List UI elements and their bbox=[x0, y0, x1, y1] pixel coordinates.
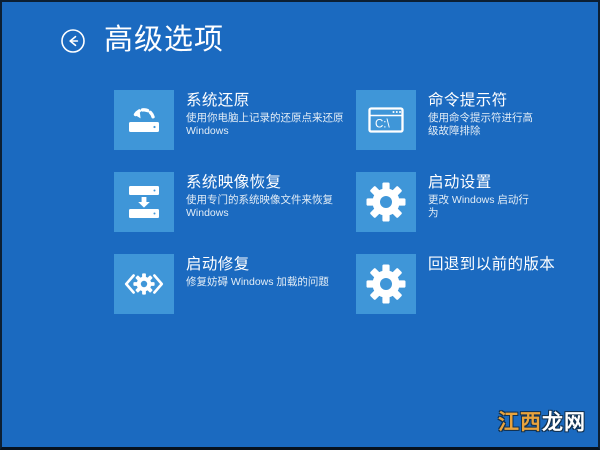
advanced-options-screen: 高级选项 系统还原 使用你电脑上记录的还原点来还原 Windows bbox=[0, 0, 600, 450]
startup-repair-icon bbox=[114, 254, 174, 314]
option-title: 回退到以前的版本 bbox=[428, 255, 534, 274]
option-text: 命令提示符 使用命令提示符进行高级故障排除 bbox=[428, 90, 534, 138]
watermark-part1: 江西 bbox=[498, 411, 542, 434]
option-command-prompt[interactable]: C:\ 命令提示符 使用命令提示符进行高级故障排除 bbox=[356, 90, 534, 172]
option-title: 系统还原 bbox=[186, 91, 354, 110]
option-title: 启动设置 bbox=[428, 173, 534, 192]
svg-text:C:\: C:\ bbox=[375, 119, 391, 131]
option-description: 修复妨碍 Windows 加载的问题 bbox=[186, 276, 329, 289]
option-text: 启动修复 修复妨碍 Windows 加载的问题 bbox=[186, 254, 329, 289]
option-text: 系统还原 使用你电脑上记录的还原点来还原 Windows bbox=[186, 90, 354, 138]
option-text: 启动设置 更改 Windows 启动行为 bbox=[428, 172, 534, 220]
option-text: 回退到以前的版本 bbox=[428, 254, 534, 276]
option-description: 使用命令提示符进行高级故障排除 bbox=[428, 112, 534, 138]
option-system-image-recovery[interactable]: 系统映像恢复 使用专门的系统映像文件来恢复 Windows bbox=[114, 172, 356, 254]
gear-icon bbox=[356, 172, 416, 232]
watermark: 江西龙网 bbox=[498, 412, 586, 433]
option-startup-repair[interactable]: 启动修复 修复妨碍 Windows 加载的问题 bbox=[114, 254, 356, 336]
command-prompt-icon: C:\ bbox=[356, 90, 416, 150]
option-description: 使用专门的系统映像文件来恢复 Windows bbox=[186, 194, 354, 220]
back-arrow-circle-icon[interactable] bbox=[60, 28, 86, 54]
option-description: 更改 Windows 启动行为 bbox=[428, 194, 534, 220]
option-description: 使用你电脑上记录的还原点来还原 Windows bbox=[186, 112, 354, 138]
options-grid: 系统还原 使用你电脑上记录的还原点来还原 Windows C:\ 命令提示符 使… bbox=[114, 90, 534, 336]
gear-icon bbox=[356, 254, 416, 314]
watermark-part2: 龙网 bbox=[542, 411, 586, 434]
screen-header: 高级选项 bbox=[60, 26, 224, 55]
option-text: 系统映像恢复 使用专门的系统映像文件来恢复 Windows bbox=[186, 172, 354, 220]
system-restore-icon bbox=[114, 90, 174, 150]
option-startup-settings[interactable]: 启动设置 更改 Windows 启动行为 bbox=[356, 172, 534, 254]
option-go-back-to-previous-build[interactable]: 回退到以前的版本 bbox=[356, 254, 534, 336]
option-system-restore[interactable]: 系统还原 使用你电脑上记录的还原点来还原 Windows bbox=[114, 90, 356, 172]
option-title: 系统映像恢复 bbox=[186, 173, 354, 192]
page-title: 高级选项 bbox=[104, 26, 224, 55]
system-image-recovery-icon bbox=[114, 172, 174, 232]
option-title: 启动修复 bbox=[186, 255, 329, 274]
option-title: 命令提示符 bbox=[428, 91, 534, 110]
